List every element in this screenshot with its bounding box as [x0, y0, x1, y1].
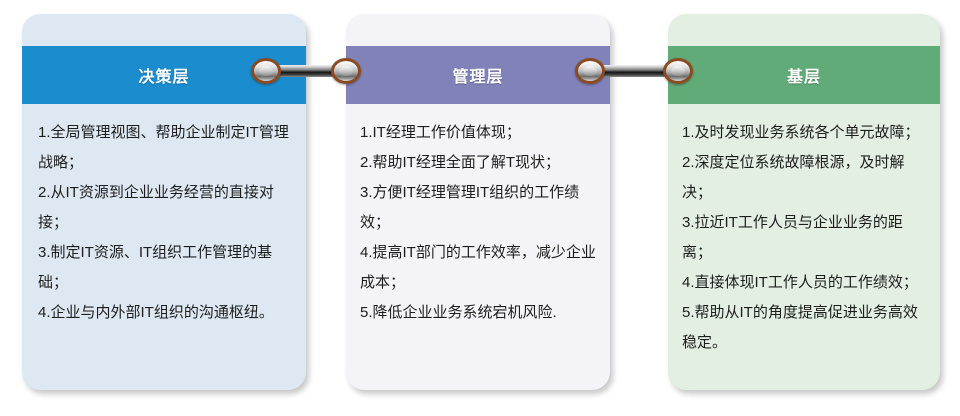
list-item: 5.帮助从IT的角度提高促进业务高效稳定。 — [682, 298, 932, 358]
list-item: 2.从IT资源到企业业务经营的直接对接； — [38, 178, 296, 238]
card-title-decision-layer: 决策层 — [138, 63, 189, 87]
chain-ring-icon — [663, 58, 693, 84]
chain-ring-icon — [251, 58, 281, 84]
card-body-management-layer: 1.IT经理工作价值体现； 2.帮助IT经理全面了解T现状； 3.方便IT经理管… — [346, 104, 610, 390]
list-item: 3.拉近IT工作人员与企业业务的距离； — [682, 208, 932, 268]
card-title-management-layer: 管理层 — [452, 63, 503, 87]
list-item: 1.全局管理视图、帮助企业制定IT管理战略； — [38, 118, 296, 178]
list-item: 1.IT经理工作价值体现； — [360, 118, 602, 148]
list-item: 3.方便IT经理管理IT组织的工作绩效； — [360, 178, 602, 238]
list-item: 5.降低企业业务系统宕机风险. — [360, 298, 602, 328]
card-body-base-layer: 1.及时发现业务系统各个单元故障； 2.深度定位系统故障根源，及时解决； 3.拉… — [668, 104, 940, 390]
diagram-canvas: 决策层 1.全局管理视图、帮助企业制定IT管理战略； 2.从IT资源到企业业务经… — [0, 0, 960, 416]
chain-ring-icon — [575, 58, 605, 84]
list-item: 3.制定IT资源、IT组织工作管理的基础； — [38, 238, 296, 298]
connector-management-base — [575, 58, 693, 84]
card-header-management-layer: 管理层 — [346, 46, 610, 104]
list-item: 2.帮助IT经理全面了解T现状； — [360, 148, 602, 178]
chain-ring-icon — [331, 58, 361, 84]
card-header-base-layer: 基层 — [668, 46, 940, 104]
list-item: 2.深度定位系统故障根源，及时解决； — [682, 148, 932, 208]
connector-decision-management — [251, 58, 361, 84]
list-item: 4.提高IT部门的工作效率，减少企业成本； — [360, 238, 602, 298]
card-base-layer[interactable]: 基层 1.及时发现业务系统各个单元故障； 2.深度定位系统故障根源，及时解决； … — [668, 14, 940, 390]
list-item: 4.直接体现IT工作人员的工作绩效； — [682, 268, 932, 298]
card-body-decision-layer: 1.全局管理视图、帮助企业制定IT管理战略； 2.从IT资源到企业业务经营的直接… — [22, 104, 306, 390]
list-item: 4.企业与内外部IT组织的沟通枢纽。 — [38, 298, 296, 328]
card-management-layer[interactable]: 管理层 1.IT经理工作价值体现； 2.帮助IT经理全面了解T现状； 3.方便I… — [346, 14, 610, 390]
list-item: 1.及时发现业务系统各个单元故障； — [682, 118, 932, 148]
card-title-base-layer: 基层 — [787, 63, 821, 87]
